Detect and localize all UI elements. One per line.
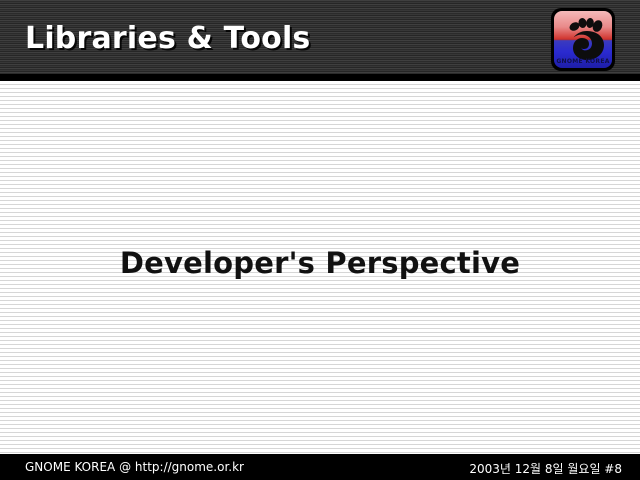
presentation-slide: Libraries & Tools GNOME KOREA Developer'… xyxy=(0,0,640,480)
slide-body: Developer's Perspective xyxy=(0,81,640,454)
slide-content-area: Developer's Perspective xyxy=(0,81,640,454)
footer-attribution: GNOME KOREA @ http://gnome.or.kr xyxy=(25,460,244,474)
slide-title: Libraries & Tools xyxy=(25,21,311,56)
gnome-korea-logo: GNOME KOREA xyxy=(551,8,615,71)
logo-caption: GNOME KOREA xyxy=(554,58,612,65)
footer-date-and-page: 2003년 12월 8일 월요일 #8 xyxy=(469,460,622,477)
logo-background: GNOME KOREA xyxy=(554,11,612,68)
slide-header: Libraries & Tools xyxy=(0,0,640,74)
slide-body-heading: Developer's Perspective xyxy=(120,246,520,280)
slide-footer: GNOME KOREA @ http://gnome.or.kr 2003년 1… xyxy=(0,454,640,480)
header-divider xyxy=(0,74,640,81)
